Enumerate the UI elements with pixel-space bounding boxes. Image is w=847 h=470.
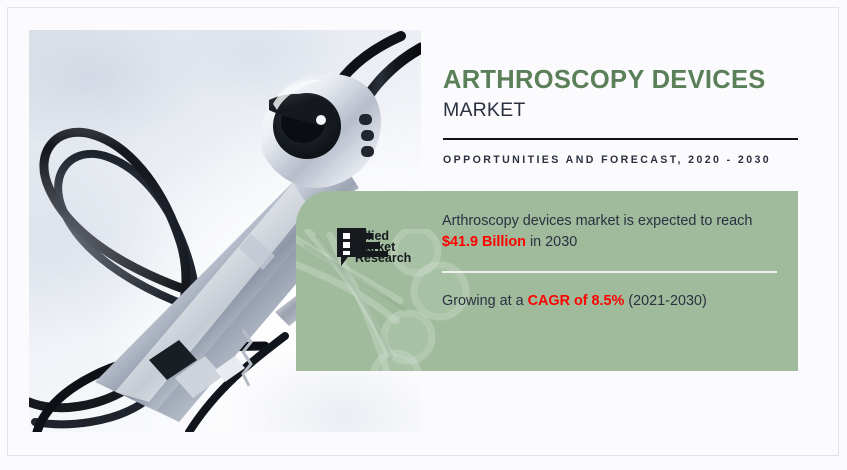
logo-line-3: Research bbox=[355, 251, 411, 265]
market-size-trail: in 2030 bbox=[526, 234, 577, 250]
header-block: ARTHROSCOPY DEVICES MARKET OPPORTUNITIES… bbox=[443, 66, 799, 170]
header-divider bbox=[443, 138, 798, 140]
page-subtitle: MARKET bbox=[443, 99, 799, 121]
market-size-value: $41.9 Billion bbox=[442, 234, 526, 250]
panel-text-block: Arthroscopy devices market is expected t… bbox=[442, 211, 778, 311]
cagr-trail: (2021-2030) bbox=[624, 293, 706, 309]
panel-divider bbox=[442, 271, 777, 273]
market-size-statement: Arthroscopy devices market is expected t… bbox=[442, 211, 778, 252]
report-scope-label: OPPORTUNITIES AND FORECAST, 2020 - 2030 bbox=[443, 152, 799, 169]
market-size-lead: Arthroscopy devices market is expected t… bbox=[442, 213, 752, 229]
cagr-statement: Growing at a CAGR of 8.5% (2021-2030) bbox=[442, 291, 778, 312]
page-title: ARTHROSCOPY DEVICES bbox=[443, 66, 799, 95]
cagr-value: CAGR of 8.5% bbox=[528, 293, 625, 309]
allied-market-research-logo: Allied Market Research bbox=[336, 227, 418, 269]
infographic-canvas: ARTHROSCOPY DEVICES MARKET OPPORTUNITIES… bbox=[0, 0, 847, 470]
cagr-lead: Growing at a bbox=[442, 293, 528, 309]
highlights-panel: Allied Market Research Arthroscopy devic… bbox=[296, 191, 798, 371]
